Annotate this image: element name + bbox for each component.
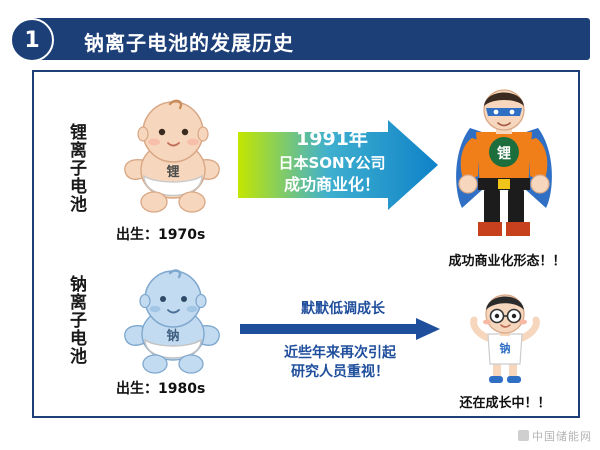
lithium-arrow-text: 1991年 日本SONY公司 成功商业化！ <box>244 128 420 195</box>
row-label-lithium: 锂离子电池 <box>58 104 84 232</box>
sodium-arrow-label: 默默低调成长 <box>248 298 438 318</box>
svg-text:钠: 钠 <box>500 341 511 355</box>
page-header: 1 钠离子电池的发展历史 <box>10 18 590 62</box>
page-title: 钠离子电池的发展历史 <box>84 27 294 56</box>
superhero-illustration: 锂 <box>448 82 560 242</box>
sodium-arrow <box>240 318 440 340</box>
header-step-number: 1 <box>10 18 54 62</box>
watermark-logo-icon <box>518 430 529 441</box>
lithium-result-caption: 成功商业化形态！！ <box>432 250 582 269</box>
sodium-result-caption: 还在成长中！！ <box>440 392 570 411</box>
sodium-arrow-subtext: 近些年来再次引起 研究人员重视！ <box>240 344 440 382</box>
svg-text:钠: 钠 <box>166 328 179 344</box>
lithium-arrow-line3: 成功商业化！ <box>244 175 420 195</box>
row-label-sodium: 钠离子电池 <box>58 256 84 384</box>
watermark: 中国储能网 <box>518 428 592 444</box>
sodium-baby-illustration: 钠 <box>118 268 228 378</box>
sodium-kid-illustration: 钠 <box>462 288 548 386</box>
lithium-baby-illustration: 锂 <box>118 98 228 218</box>
svg-text:锂: 锂 <box>497 145 511 162</box>
sodium-arrow-sub-line2: 研究人员重视！ <box>240 363 440 382</box>
lithium-arrow-line1: 1991年 <box>244 128 420 152</box>
svg-text:锂: 锂 <box>166 164 179 180</box>
sodium-arrow-sub-line1: 近些年来再次引起 <box>240 344 440 363</box>
lithium-arrow-line2: 日本SONY公司 <box>244 154 420 173</box>
sodium-birth-label: 出生：1980s <box>116 378 205 398</box>
lithium-birth-label: 出生：1970s <box>116 224 205 244</box>
watermark-text: 中国储能网 <box>532 430 592 443</box>
